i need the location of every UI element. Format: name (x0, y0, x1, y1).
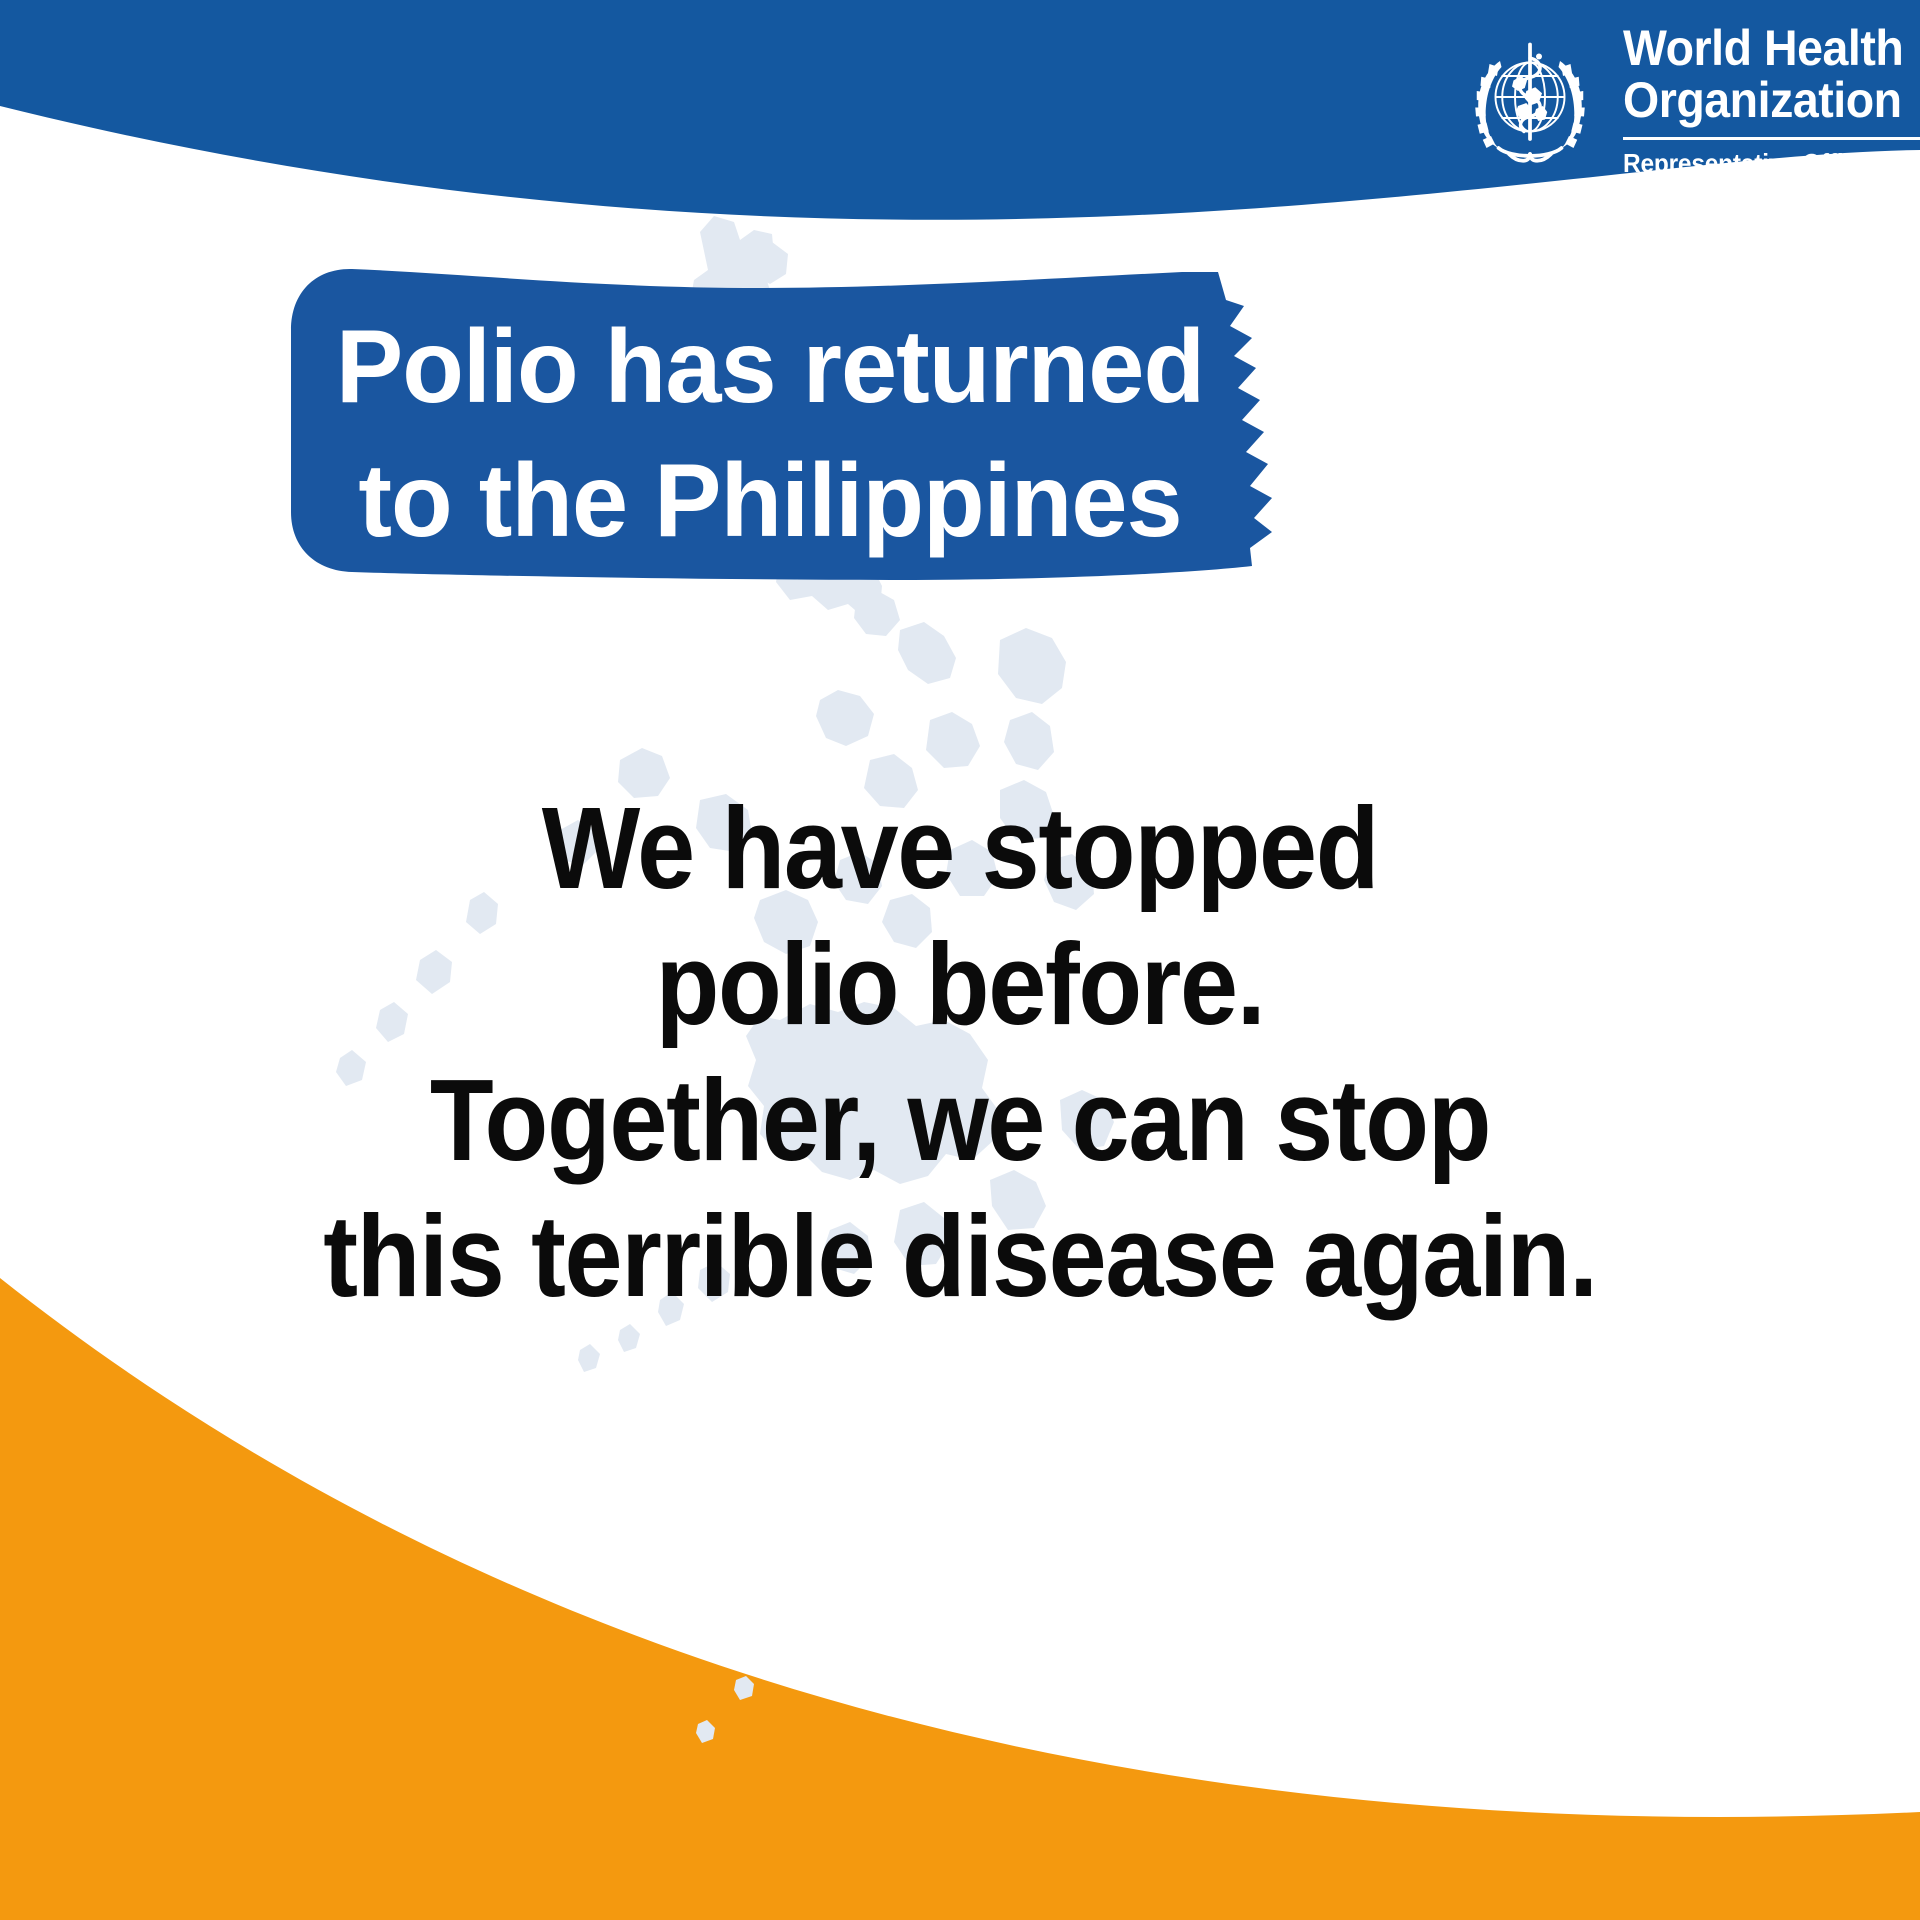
headline-line-1: Polio has returned (314, 300, 1226, 434)
message-line-1: We have stopped (186, 780, 1734, 916)
message-line-3: Together, we can stop (186, 1052, 1734, 1188)
message-line-4: this terrible disease again. (186, 1188, 1734, 1324)
who-emblem-icon (1455, 28, 1605, 178)
who-logo: World Health Organization Representative… (1455, 22, 1920, 207)
message-line-2: polio before. (186, 916, 1734, 1052)
who-office-line-2: for the Philippines (1623, 178, 1906, 207)
who-divider-rule (1623, 137, 1920, 140)
who-name-line-2: Organization (1623, 74, 1903, 126)
message-body: We have stopped polio before. Together, … (100, 780, 1820, 1324)
who-wordmark: World Health Organization Representative… (1623, 22, 1920, 207)
who-office-line-1: Representative Office (1623, 149, 1906, 178)
headline: Polio has returned to the Philippines (300, 300, 1240, 568)
poster-canvas: World Health Organization Representative… (0, 0, 1920, 1920)
headline-line-2: to the Philippines (314, 434, 1226, 568)
who-name-line-1: World Health (1623, 22, 1903, 74)
